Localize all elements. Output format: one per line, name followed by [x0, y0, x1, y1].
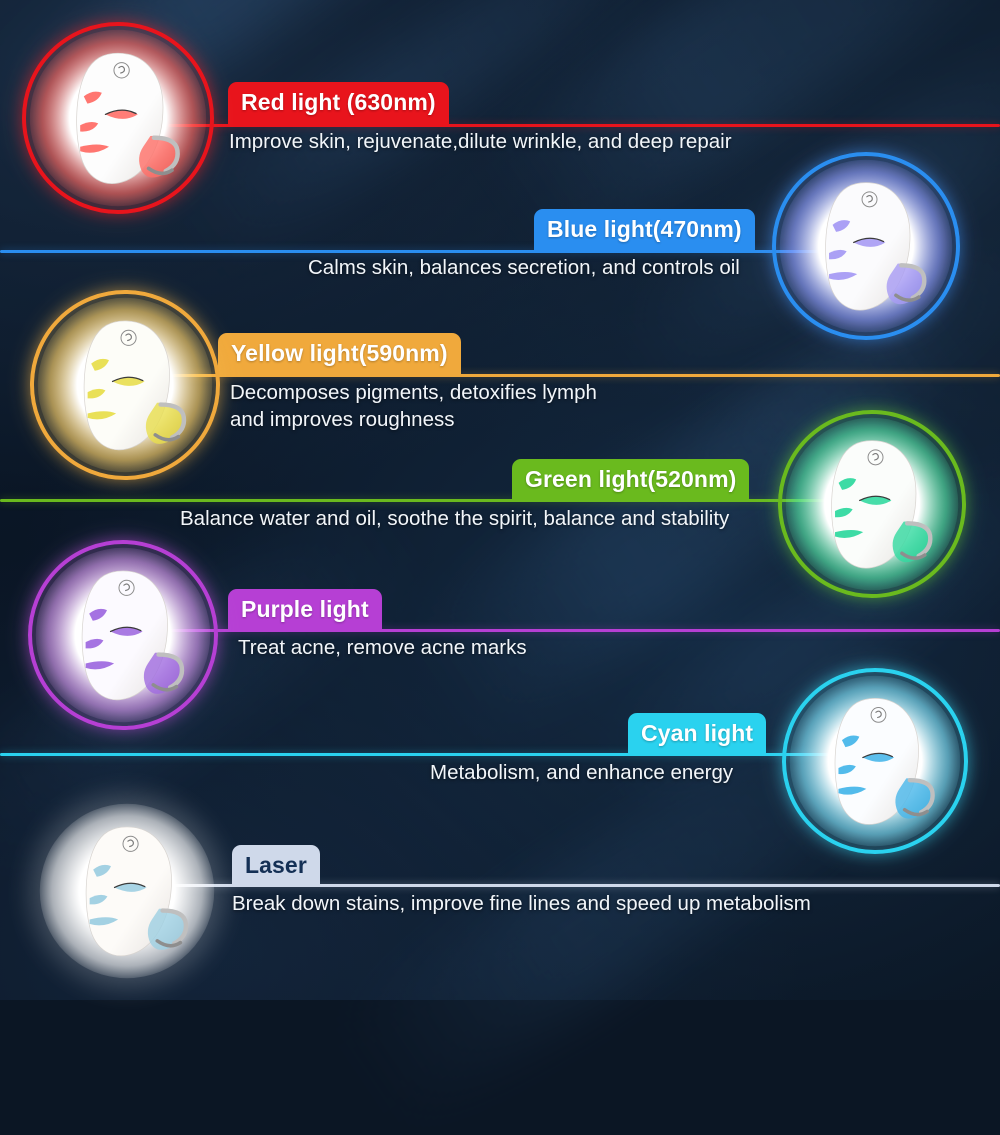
light-mode-chip-cyan[interactable]: Cyan light: [628, 713, 766, 755]
mask-photo-green: [778, 410, 966, 598]
led-face-mask-illustration: [38, 802, 216, 980]
mask-ring-red: [22, 22, 214, 214]
mask-ring-purple: [28, 540, 218, 730]
mask-ring-yellow: [30, 290, 220, 480]
connector-line-red: [168, 124, 1000, 127]
light-mode-chip-blue[interactable]: Blue light(470nm): [534, 209, 755, 251]
light-mode-description-red: Improve skin, rejuvenate,dilute wrinkle,…: [229, 128, 732, 155]
mask-circle-inner: [38, 802, 216, 980]
light-mode-description-cyan: Metabolism, and enhance energy: [430, 759, 733, 786]
light-mode-chip-yellow[interactable]: Yellow light(590nm): [218, 333, 461, 375]
mask-photo-laser: [32, 796, 222, 986]
light-mode-description-blue: Calms skin, balances secretion, and cont…: [308, 254, 740, 281]
light-mode-description-green: Balance water and oil, soothe the spirit…: [180, 505, 729, 532]
light-mode-chip-purple[interactable]: Purple light: [228, 589, 382, 631]
light-mode-list: Red light (630nm)Improve skin, rejuvenat…: [0, 0, 1000, 1000]
light-mode-description-yellow: Decomposes pigments, detoxifies lymph an…: [230, 379, 597, 433]
light-mode-chip-laser[interactable]: Laser: [232, 845, 320, 887]
light-mode-chip-green[interactable]: Green light(520nm): [512, 459, 749, 501]
mask-photo-blue: [772, 152, 960, 340]
mask-ring-blue: [772, 152, 960, 340]
mask-photo-yellow: [30, 290, 220, 480]
light-mode-description-purple: Treat acne, remove acne marks: [238, 634, 527, 661]
mask-ring-cyan: [782, 668, 968, 854]
mask-ring-green: [778, 410, 966, 598]
light-mode-chip-red[interactable]: Red light (630nm): [228, 82, 449, 124]
light-mode-description-laser: Break down stains, improve fine lines an…: [232, 890, 811, 917]
mask-photo-red: [22, 22, 214, 214]
mask-photo-cyan: [782, 668, 968, 854]
mask-photo-purple: [28, 540, 218, 730]
